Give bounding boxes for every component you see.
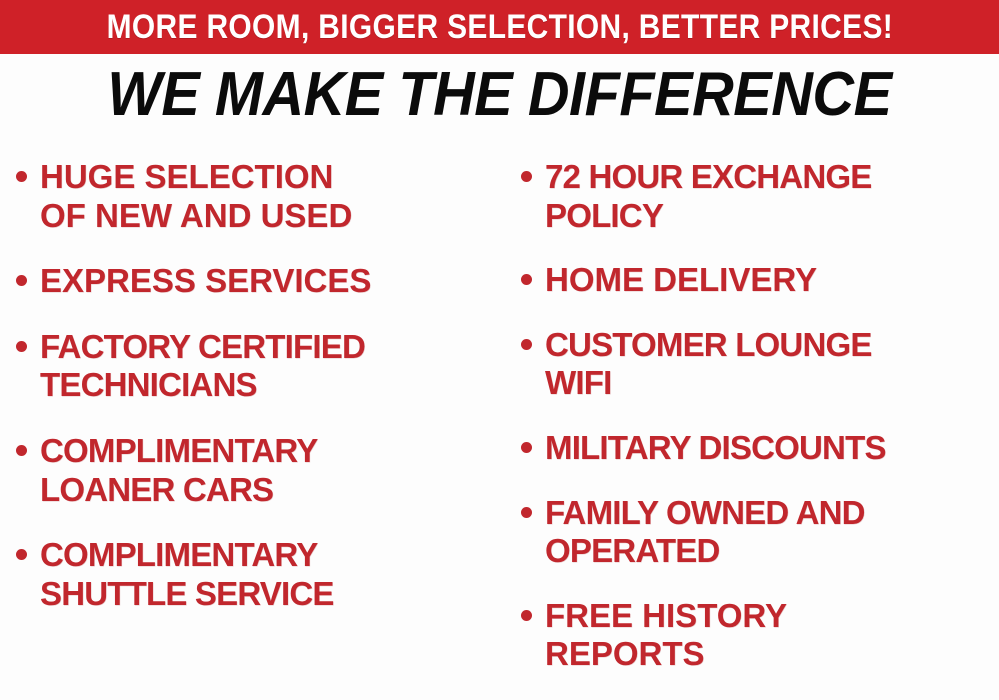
list-item: CUSTOMER LOUNGE WIFI [521,326,999,403]
list-item-label: EXPRESS SERVICES [40,262,371,301]
list-item-label: COMPLIMENTARY SHUTTLE SERVICE [40,536,334,613]
promo-banner-text: MORE ROOM, BIGGER SELECTION, BETTER PRIC… [106,10,892,44]
bullet-dot-icon [16,341,27,352]
list-item: MILITARY DISCOUNTS [521,429,999,468]
bullet-dot-icon [521,339,532,350]
benefits-column-left: HUGE SELECTION OF NEW AND USED EXPRESS S… [0,158,505,640]
list-item-label: COMPLIMENTARY LOANER CARS [40,432,317,509]
list-item-label: FREE HISTORY REPORTS [545,597,787,674]
list-item-label: CUSTOMER LOUNGE WIFI [545,326,872,403]
list-item: COMPLIMENTARY LOANER CARS [16,432,505,509]
list-item: COMPLIMENTARY SHUTTLE SERVICE [16,536,505,613]
bullet-dot-icon [16,275,27,286]
list-item: FACTORY CERTIFIED TECHNICIANS [16,328,505,405]
bullet-dot-icon [16,445,27,456]
bullet-dot-icon [16,171,27,182]
benefits-columns: HUGE SELECTION OF NEW AND USED EXPRESS S… [0,158,999,692]
list-item-label: FACTORY CERTIFIED TECHNICIANS [40,328,365,405]
list-item-label: 72 HOUR EXCHANGE POLICY [545,158,871,235]
bullet-dot-icon [521,507,532,518]
benefits-column-right: 72 HOUR EXCHANGE POLICY HOME DELIVERY CU… [505,158,999,700]
list-item: FAMILY OWNED AND OPERATED [521,494,999,571]
list-item: 72 HOUR EXCHANGE POLICY [521,158,999,235]
dealership-advertisement: MORE ROOM, BIGGER SELECTION, BETTER PRIC… [0,0,999,692]
bullet-dot-icon [521,442,532,453]
list-item: FREE HISTORY REPORTS [521,597,999,674]
list-item: HUGE SELECTION OF NEW AND USED [16,158,505,235]
list-item-label: FAMILY OWNED AND OPERATED [545,494,865,571]
list-item: HOME DELIVERY [521,261,999,300]
list-item: EXPRESS SERVICES [16,262,505,301]
bullet-dot-icon [521,274,532,285]
bullet-dot-icon [16,549,27,560]
promo-banner: MORE ROOM, BIGGER SELECTION, BETTER PRIC… [0,0,999,54]
bullet-dot-icon [521,171,532,182]
list-item-label: MILITARY DISCOUNTS [545,429,886,468]
list-item-label: HUGE SELECTION OF NEW AND USED [40,158,352,235]
page-title: WE MAKE THE DIFFERENCE [35,62,964,127]
list-item-label: HOME DELIVERY [545,261,817,300]
bullet-dot-icon [521,610,532,621]
